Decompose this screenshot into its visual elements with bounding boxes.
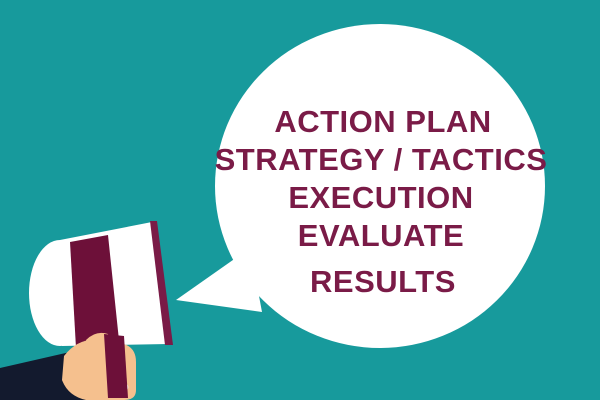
scene-svg: ACTION PLAN STRATEGY / TACTICS EXECUTION… (0, 0, 600, 400)
megaphone-handle (104, 334, 128, 398)
bubble-line-1: ACTION PLAN (274, 104, 491, 139)
bubble-line-5: RESULTS (310, 264, 456, 299)
bubble-line-2: STRATEGY / TACTICS (215, 142, 548, 177)
bubble-line-4: EVALUATE (298, 218, 464, 253)
illustration-canvas: ACTION PLAN STRATEGY / TACTICS EXECUTION… (0, 0, 600, 400)
bubble-line-3: EXECUTION (288, 180, 473, 215)
